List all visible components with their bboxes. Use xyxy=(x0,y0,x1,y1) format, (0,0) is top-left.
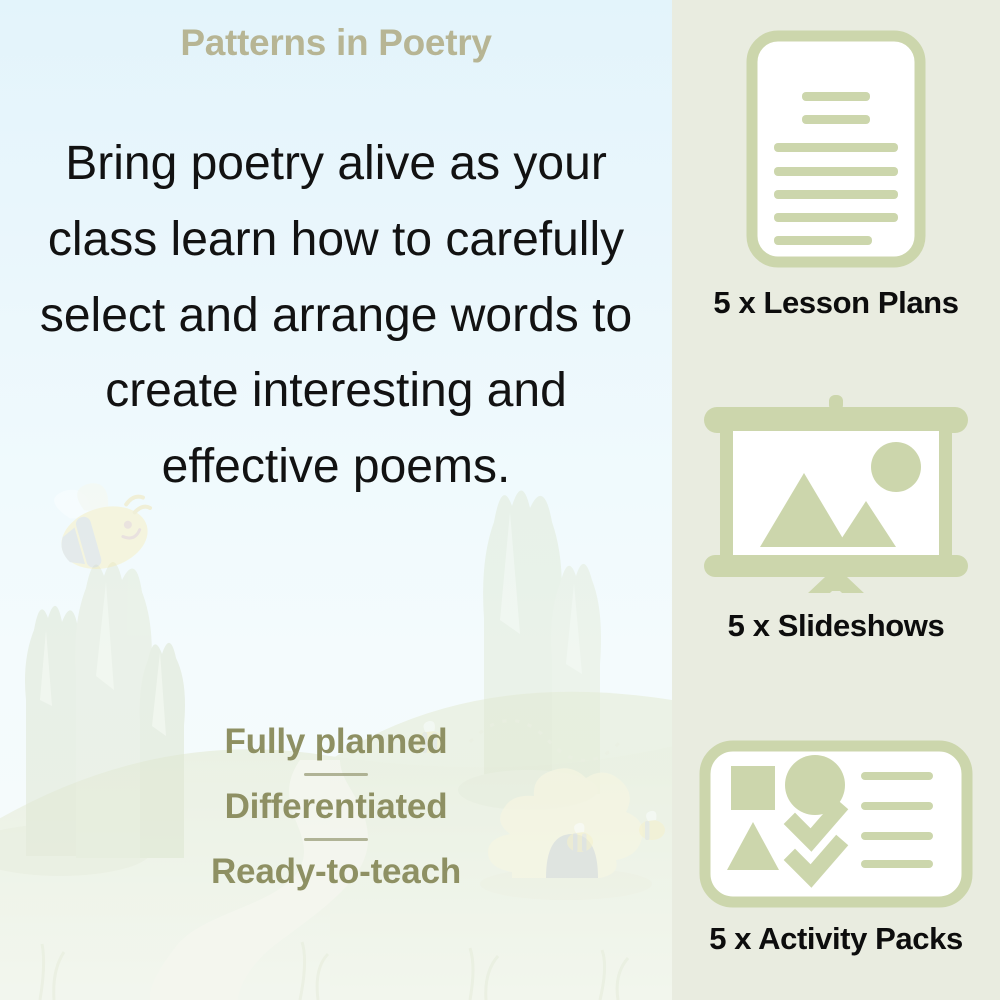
deliverable-label-activity-packs: 5 x Activity Packs xyxy=(709,921,963,957)
promotional-graphic: Patterns in Poetry Bring poetry alive as… xyxy=(0,0,1000,1000)
page-title: Patterns in Poetry xyxy=(0,22,672,64)
feature-item-differentiated: Differentiated xyxy=(0,787,672,826)
deliverable-slideshows: 5 x Slideshows xyxy=(672,395,1000,644)
deliverables-panel: 5 x Lesson Plans xyxy=(672,0,1000,1000)
feature-divider xyxy=(304,838,368,841)
left-content-panel: Patterns in Poetry Bring poetry alive as… xyxy=(0,0,672,1000)
deliverable-activity-packs: 5 x Activity Packs xyxy=(672,740,1000,957)
feature-divider xyxy=(304,773,368,776)
deliverable-label-slideshows: 5 x Slideshows xyxy=(728,608,945,644)
activity-card-icon xyxy=(699,740,973,913)
deliverable-label-lesson-plans: 5 x Lesson Plans xyxy=(713,285,958,321)
feature-item-fully-planned: Fully planned xyxy=(0,722,672,761)
description-text: Bring poetry alive as your class learn h… xyxy=(26,126,646,505)
presentation-screen-icon xyxy=(698,395,974,598)
feature-item-ready-to-teach: Ready-to-teach xyxy=(0,852,672,891)
feature-list: Fully planned Differentiated Ready-to-te… xyxy=(0,722,672,892)
deliverable-lesson-plans: 5 x Lesson Plans xyxy=(672,30,1000,321)
document-icon xyxy=(746,30,926,273)
